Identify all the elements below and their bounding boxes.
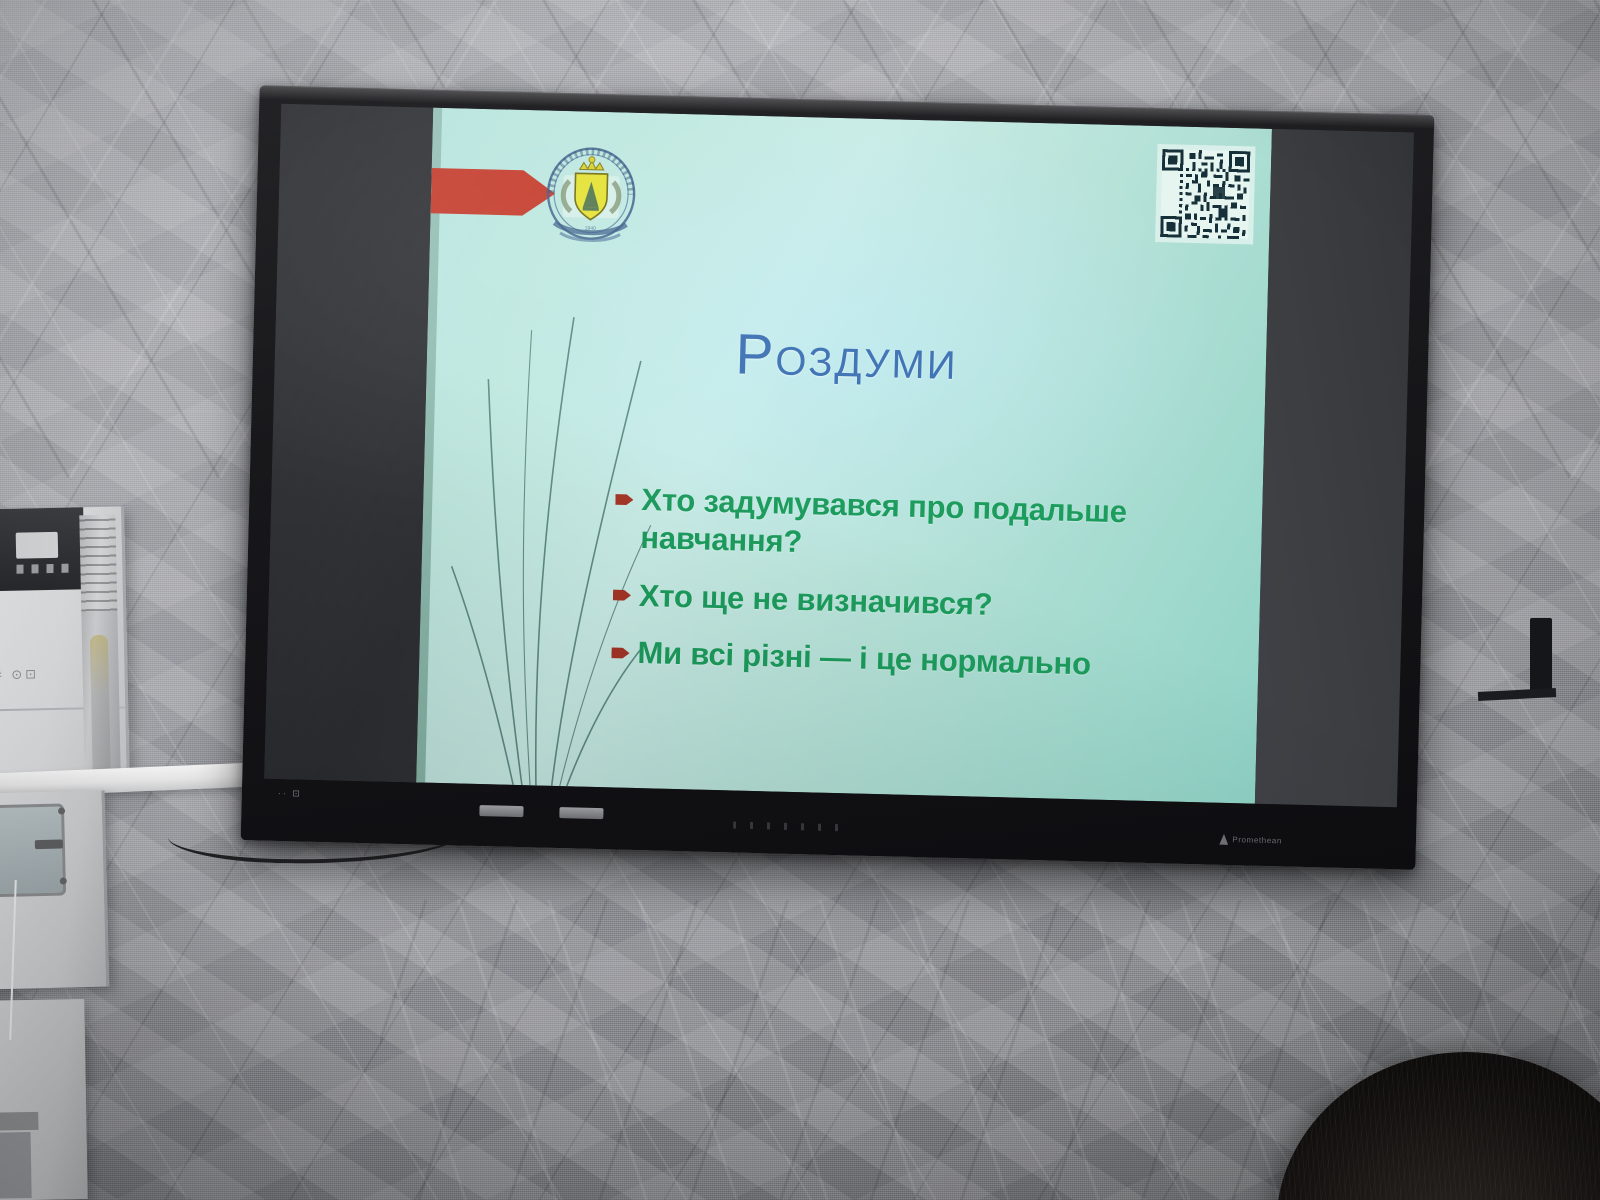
ac-button-row[interactable] <box>16 564 70 574</box>
bullet-text: Хто задумувався про подальше навчання? <box>640 481 1207 571</box>
ac-unit-label: · ≠ ⊙⊡ <box>0 666 39 683</box>
panel-window <box>0 803 66 897</box>
list-item: Хто задумувався про подальше навчання? <box>614 480 1207 571</box>
interactive-flat-panel-display[interactable]: 1940 <box>241 85 1435 869</box>
junction-box <box>0 999 88 1200</box>
bullet-marker-icon <box>615 492 633 506</box>
junction-box-slot-lower <box>0 1132 32 1199</box>
ac-side-vent <box>79 515 120 772</box>
bullet-marker-icon <box>611 646 629 660</box>
bullet-text: Ми всі різні — і це нормально <box>637 634 1091 683</box>
ac-vent-stain <box>90 635 111 785</box>
university-crest-svg: 1940 <box>538 140 645 255</box>
junction-box-slot <box>0 1112 39 1131</box>
slide-bullet-list: Хто задумувався про подальше навчання? Х… <box>611 480 1207 706</box>
bezel-button-right[interactable] <box>559 807 603 819</box>
qr-code[interactable] <box>1155 144 1255 244</box>
list-item: Хто ще не визначився? <box>612 576 1204 629</box>
svg-text:1940: 1940 <box>585 226 596 232</box>
panel-latch[interactable] <box>35 839 63 849</box>
brand-triangle-icon <box>1219 834 1228 845</box>
qr-code-inner <box>1160 149 1250 239</box>
letterbox-left <box>264 104 433 783</box>
air-conditioner-unit: · ≠ ⊙⊡ <box>0 506 130 781</box>
brand-logo: Promethean <box>1219 834 1282 847</box>
bullet-text: Хто ще не визначився? <box>638 577 993 624</box>
presentation-slide[interactable]: 1940 <box>416 108 1272 804</box>
list-item: Ми всі різні — і це нормально <box>611 634 1203 687</box>
qr-code-svg <box>1160 149 1250 239</box>
ac-display-screen <box>16 532 59 559</box>
display-screen[interactable]: 1940 <box>264 104 1414 807</box>
bullet-marker-icon <box>613 588 631 602</box>
bezel-indicator-label: ·· ⊡ <box>278 788 302 800</box>
ac-vent-slats <box>79 515 117 612</box>
bezel-button-left[interactable] <box>479 805 523 817</box>
university-crest-logo: 1940 <box>538 140 645 255</box>
ac-control-panel <box>0 507 85 591</box>
wall-bracket <box>1530 618 1552 694</box>
brand-name: Promethean <box>1232 835 1282 845</box>
letterbox-right <box>1255 129 1414 807</box>
photo-scene: · ≠ ⊙⊡ <box>0 0 1600 1200</box>
